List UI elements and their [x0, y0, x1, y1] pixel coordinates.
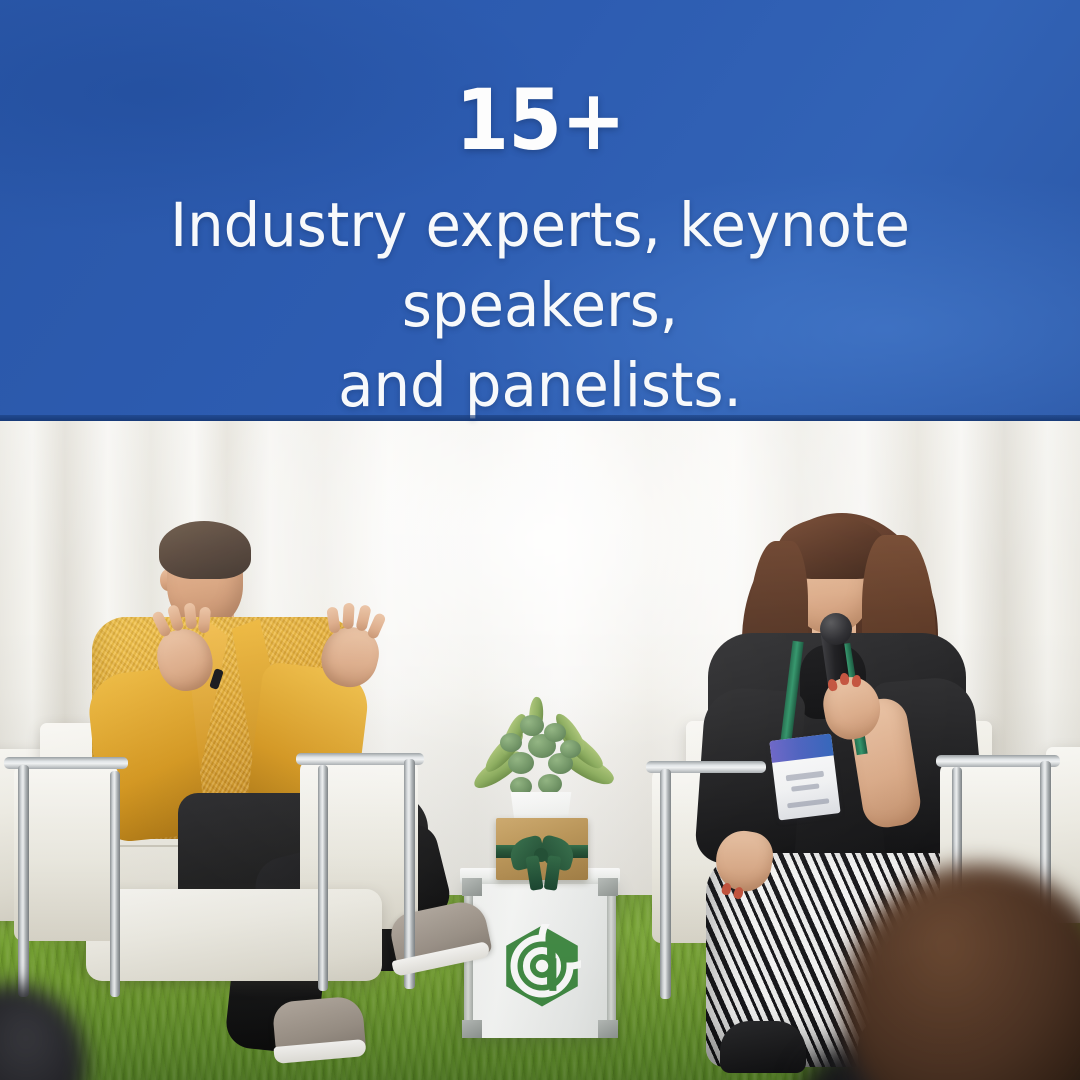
- cube-corner-top-left: [462, 878, 482, 896]
- chair-left-leg-far-front: [404, 759, 415, 989]
- speaker-left-finger: [342, 603, 354, 630]
- plant-leaf: [520, 715, 544, 736]
- speaker-right-shoe-left: [720, 1021, 806, 1073]
- badge-text-line: [786, 771, 824, 782]
- cube-corner-bottom-right: [598, 1020, 618, 1038]
- microphone-head-icon: [820, 613, 852, 645]
- chair-left-leg-front: [18, 765, 29, 997]
- fingernail: [840, 673, 850, 686]
- cube-corner-top-right: [598, 878, 618, 896]
- blue-stat-banner: 15+ Industry experts, keynote speakers, …: [0, 0, 1080, 421]
- speaker-left-hair: [159, 521, 251, 579]
- plant-leaf: [538, 774, 562, 794]
- plant-leaf: [544, 723, 566, 742]
- chair-right-leg-front: [660, 769, 671, 999]
- conference-badge: [769, 734, 840, 821]
- plant-leaf: [500, 733, 522, 752]
- chair-left-seat: [86, 889, 382, 981]
- stat-caption: Industry experts, keynote speakers, and …: [63, 186, 1017, 426]
- chair-left-leg-far-back: [318, 765, 328, 991]
- cube-edge-right: [607, 880, 616, 1038]
- stat-number: 15+: [455, 78, 625, 162]
- stat-promo-card: 15+ Industry experts, keynote speakers, …: [0, 0, 1080, 1080]
- badge-text-line: [791, 783, 819, 791]
- plant-leaf: [508, 752, 534, 774]
- panel-discussion-photo: [0, 421, 1080, 1080]
- chair-left-leg-back: [110, 771, 120, 997]
- badge-text-line: [787, 798, 829, 808]
- plant-leaf: [560, 740, 581, 758]
- cube-corner-bottom-left: [462, 1020, 482, 1038]
- hexagon-spiral-logo: [503, 924, 581, 1008]
- chair-left-arm-near: [14, 765, 118, 941]
- banner-bottom-edge: [0, 415, 1080, 421]
